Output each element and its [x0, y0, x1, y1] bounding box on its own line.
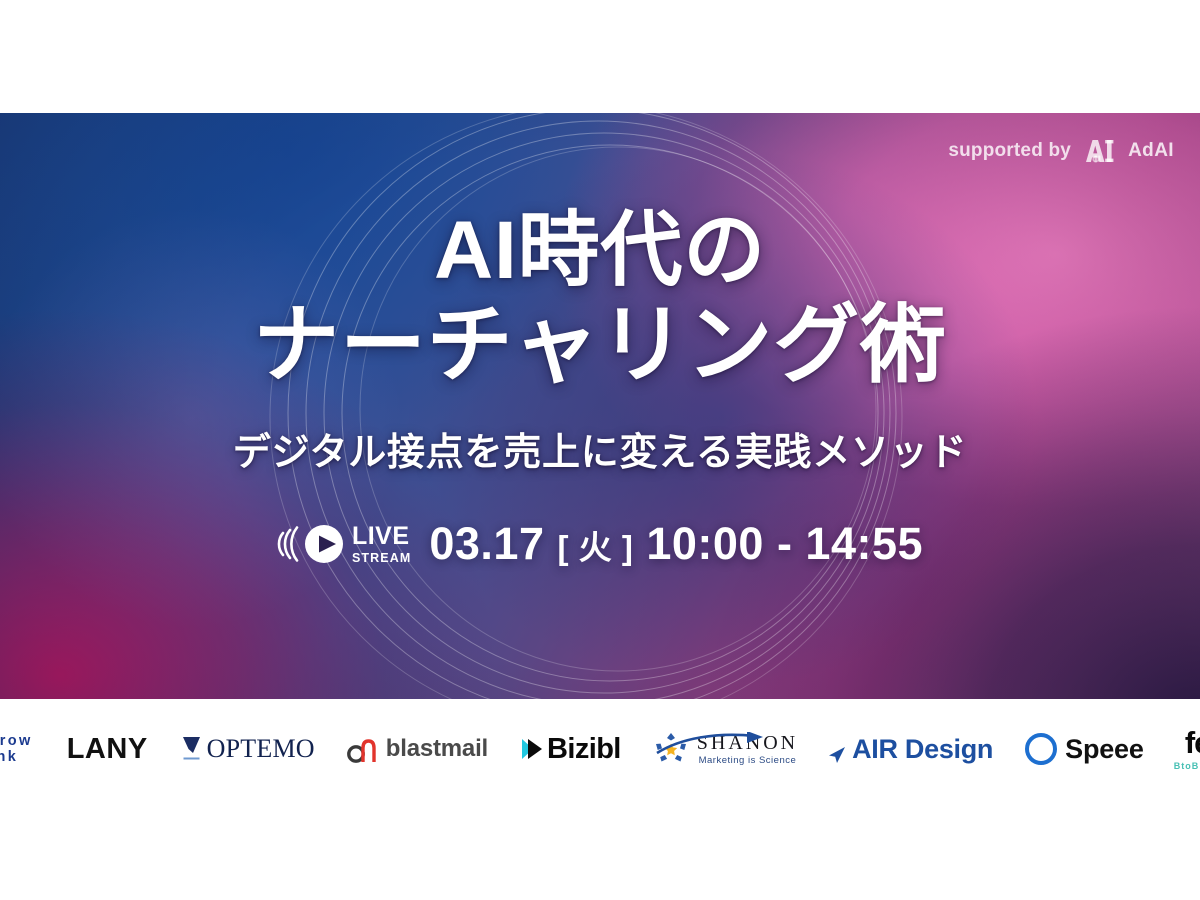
page-title: AI時代の ナーチャリング術: [253, 205, 947, 393]
title-line-2: ナーチャリング術: [253, 297, 947, 393]
banner-page: supported by: [0, 0, 1200, 900]
air-design-cursor-icon: [828, 740, 846, 758]
arrow-link-text: Arrow Link: [0, 733, 33, 765]
logo-lany[interactable]: LANY: [49, 733, 166, 766]
logo-bizibl[interactable]: Bizibl: [504, 733, 637, 766]
ferret-tagline: BtoBマーケするなら: [1174, 762, 1200, 771]
arrow-link-line-2: Link: [0, 749, 33, 765]
speee-circle-icon: [1025, 733, 1057, 765]
blastmail-text: blastmail: [386, 735, 488, 763]
livestream-info: LIVE STREAM 03.17 [ 火 ] 10:00 - 14:55: [277, 518, 923, 570]
live-stream-badge: LIVE STREAM: [277, 521, 411, 567]
hero-banner: supported by: [0, 113, 1200, 699]
live-stream-words: LIVE STREAM: [352, 524, 411, 565]
event-time: 10:00 - 14:55: [646, 518, 923, 569]
event-datetime: 03.17 [ 火 ] 10:00 - 14:55: [429, 518, 923, 570]
event-day: [ 火 ]: [558, 529, 634, 566]
logo-air-design[interactable]: AIR Design: [812, 734, 1009, 765]
page-subtitle: デジタル接点を売上に変える実践メソッド: [233, 421, 968, 476]
title-line-1: AI時代の: [253, 205, 947, 297]
logo-shanon[interactable]: SHANON Marketing is Science: [637, 730, 812, 768]
hero-content: AI時代の ナーチャリング術 デジタル接点を売上に変える実践メソッド: [0, 113, 1200, 699]
sponsor-logo-bar: Arrow Link LANY OPTEMO bla: [0, 699, 1200, 799]
ferret-name: ferret: [1185, 727, 1200, 758]
logo-speee[interactable]: Speee: [1009, 733, 1160, 765]
arrow-link-line-1: Arrow: [0, 733, 33, 749]
bizibl-text: Bizibl: [547, 733, 621, 766]
optemo-mark-icon: [182, 736, 201, 762]
speee-text: Speee: [1065, 734, 1144, 765]
shanon-tagline: Marketing is Science: [699, 756, 797, 766]
optemo-text: OPTEMO: [207, 734, 315, 764]
logo-ferret[interactable]: ferret BtoBマーケするなら: [1160, 727, 1200, 771]
logo-arrow-link[interactable]: Arrow Link: [0, 730, 49, 768]
bizibl-play-icon: [520, 736, 544, 762]
live-label: LIVE: [352, 524, 411, 549]
air-design-text: AIR Design: [852, 734, 993, 765]
stream-label: STREAM: [352, 552, 411, 565]
lany-text: LANY: [67, 733, 148, 766]
event-date: 03.17: [429, 518, 544, 569]
logo-blastmail[interactable]: blastmail: [331, 735, 504, 763]
blastmail-mark-icon: [347, 735, 377, 763]
logo-optemo[interactable]: OPTEMO: [166, 734, 331, 764]
shanon-arrow-icon: [655, 732, 767, 756]
live-play-icon: [277, 521, 345, 567]
